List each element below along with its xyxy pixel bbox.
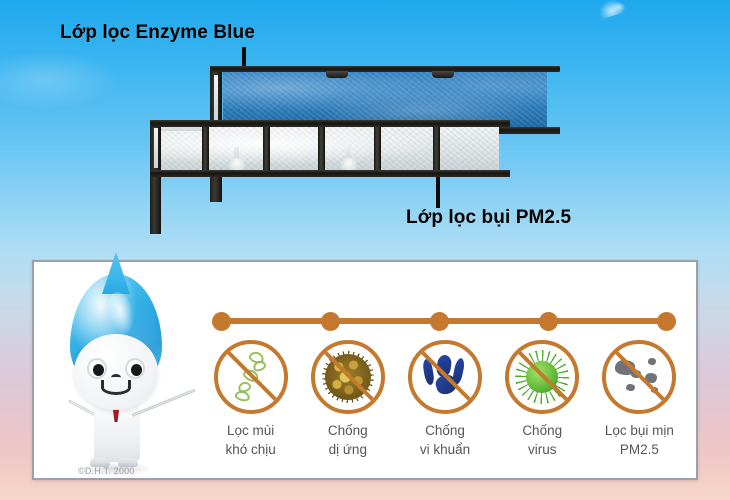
water-drop-mascot: ©D.H.T. 2000 (46, 268, 186, 473)
enzyme-right-slot (214, 75, 218, 123)
virus-icon (505, 340, 579, 414)
feature-label-dust-2: PM2.5 (620, 440, 659, 459)
pm25-right-slot (154, 128, 158, 168)
enzyme-clip-2 (432, 71, 454, 78)
enzyme-frame-top-rail (210, 66, 560, 72)
timeline-dot-1 (212, 312, 231, 331)
feature-label-virus-2: virus (528, 440, 557, 459)
feature-item-dust: Lọc bụi mịn PM2.5 (591, 340, 688, 470)
feature-label-virus: Chống (522, 421, 562, 440)
feature-label-bacteria-2: vi khuẩn (420, 440, 470, 459)
copyright-text: ©D.H.T. 2000 (78, 466, 135, 476)
drop-highlight (103, 290, 139, 339)
pm25-rib-3 (318, 126, 325, 171)
feature-item-allergy: Chống dị ứng (299, 340, 396, 470)
pm25-rib-5 (433, 126, 440, 171)
mascot-eye-right (125, 358, 145, 379)
pm25-filter-unit (150, 120, 510, 177)
cloud-wisp-small-icon (612, 2, 626, 12)
feature-list: Lọc mùi khó chịu Chống dị ứng (202, 340, 688, 470)
cloud-haze-icon (0, 50, 120, 110)
pm25-frame-bottom-rail (150, 170, 510, 177)
pm25-media (161, 126, 499, 171)
dust-blob-3 (648, 358, 656, 365)
timeline-dot-4 (539, 312, 558, 331)
dust-particles-icon (602, 340, 676, 414)
filter-cross-section-diagram (150, 60, 575, 190)
feature-card: ©D.H.T. 2000 (32, 260, 698, 480)
feature-item-bacteria: Chống vi khuẩn (396, 340, 493, 470)
timeline-dot-2 (321, 312, 340, 331)
pm25-rib-4 (374, 126, 381, 171)
label-enzyme-blue-layer: Lớp lọc Enzyme Blue (60, 22, 255, 44)
feature-item-virus: Chống virus (494, 340, 591, 470)
feature-label-odor: Lọc mùi (227, 421, 274, 440)
pollen-allergy-icon (311, 340, 385, 414)
feature-label-allergy: Chống (328, 421, 368, 440)
feature-label-odor-2: khó chịu (225, 440, 275, 459)
odor-icon (214, 340, 288, 414)
pm25-rib-2 (263, 126, 270, 171)
label-pm25-layer: Lớp lọc bụi PM2.5 (406, 207, 571, 229)
enzyme-blue-media (223, 71, 547, 127)
feature-item-odor: Lọc mùi khó chịu (202, 340, 299, 470)
mascot-head (74, 334, 158, 410)
feature-label-allergy-2: dị ứng (329, 440, 367, 459)
dust-blob-5 (626, 384, 635, 391)
feature-timeline (212, 312, 676, 330)
feature-label-bacteria: Chống (425, 421, 465, 440)
mascot-mouth (101, 380, 131, 395)
screenshot-root: Lớp lọc Enzyme Blue Lớp lọc bụi PM2.5 (0, 0, 730, 500)
odor-wave-5 (234, 389, 251, 402)
mascot-eye-left (87, 358, 107, 379)
pm25-rib-1 (202, 126, 209, 171)
enzyme-clip-1 (326, 71, 348, 78)
timeline-dot-5 (657, 312, 676, 331)
pm25-frame-right-post (150, 177, 161, 234)
timeline-dot-3 (430, 312, 449, 331)
bacteria-icon (408, 340, 482, 414)
pm25-frame-top-rail (150, 120, 510, 127)
feature-label-dust: Lọc bụi mịn (605, 421, 674, 440)
